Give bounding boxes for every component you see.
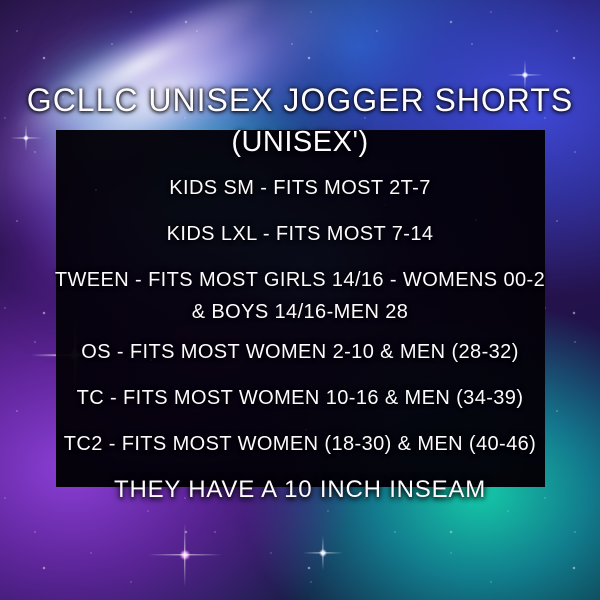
size-line-list: KIDS SM - FITS MOST 2T-7 KIDS LXL - FITS…: [20, 176, 580, 502]
size-line-text: KIDS SM - FITS MOST 2T-7: [169, 177, 431, 199]
size-line-text: TC - FITS MOST WOMEN 10-16 & MEN (34-39): [77, 387, 524, 409]
size-line-text: TWEEN - FITS MOST GIRLS 14/16 - WOMENS 0…: [55, 269, 545, 291]
page-subtitle: (UNISEX'): [231, 126, 368, 158]
size-line-tc: TC - FITS MOST WOMEN 10-16 & MEN (34-39): [20, 386, 580, 410]
page-title: GCLLC UNISEX JOGGER SHORTS: [27, 82, 573, 118]
size-line-text: KIDS LXL - FITS MOST 7-14: [167, 223, 434, 245]
size-line-text-continuation: & BOYS 14/16-MEN 28: [20, 300, 580, 324]
size-line-tc2: TC2 - FITS MOST WOMEN (18-30) & MEN (40-…: [20, 432, 580, 456]
size-line-kids-lxl: KIDS LXL - FITS MOST 7-14: [20, 222, 580, 246]
size-line-kids-sm: KIDS SM - FITS MOST 2T-7: [20, 176, 580, 200]
size-line-text: TC2 - FITS MOST WOMEN (18-30) & MEN (40-…: [64, 433, 536, 455]
inseam-note: THEY HAVE A 10 INCH INSEAM: [20, 478, 580, 502]
size-line-text: OS - FITS MOST WOMEN 2-10 & MEN (28-32): [81, 341, 519, 363]
size-chart-text: GCLLC UNISEX JOGGER SHORTS (UNISEX') KID…: [0, 0, 600, 600]
size-line-tween: TWEEN - FITS MOST GIRLS 14/16 - WOMENS 0…: [20, 268, 580, 324]
size-line-os: OS - FITS MOST WOMEN 2-10 & MEN (28-32): [20, 340, 580, 364]
galaxy-size-chart-graphic: GCLLC UNISEX JOGGER SHORTS (UNISEX') KID…: [0, 0, 600, 600]
